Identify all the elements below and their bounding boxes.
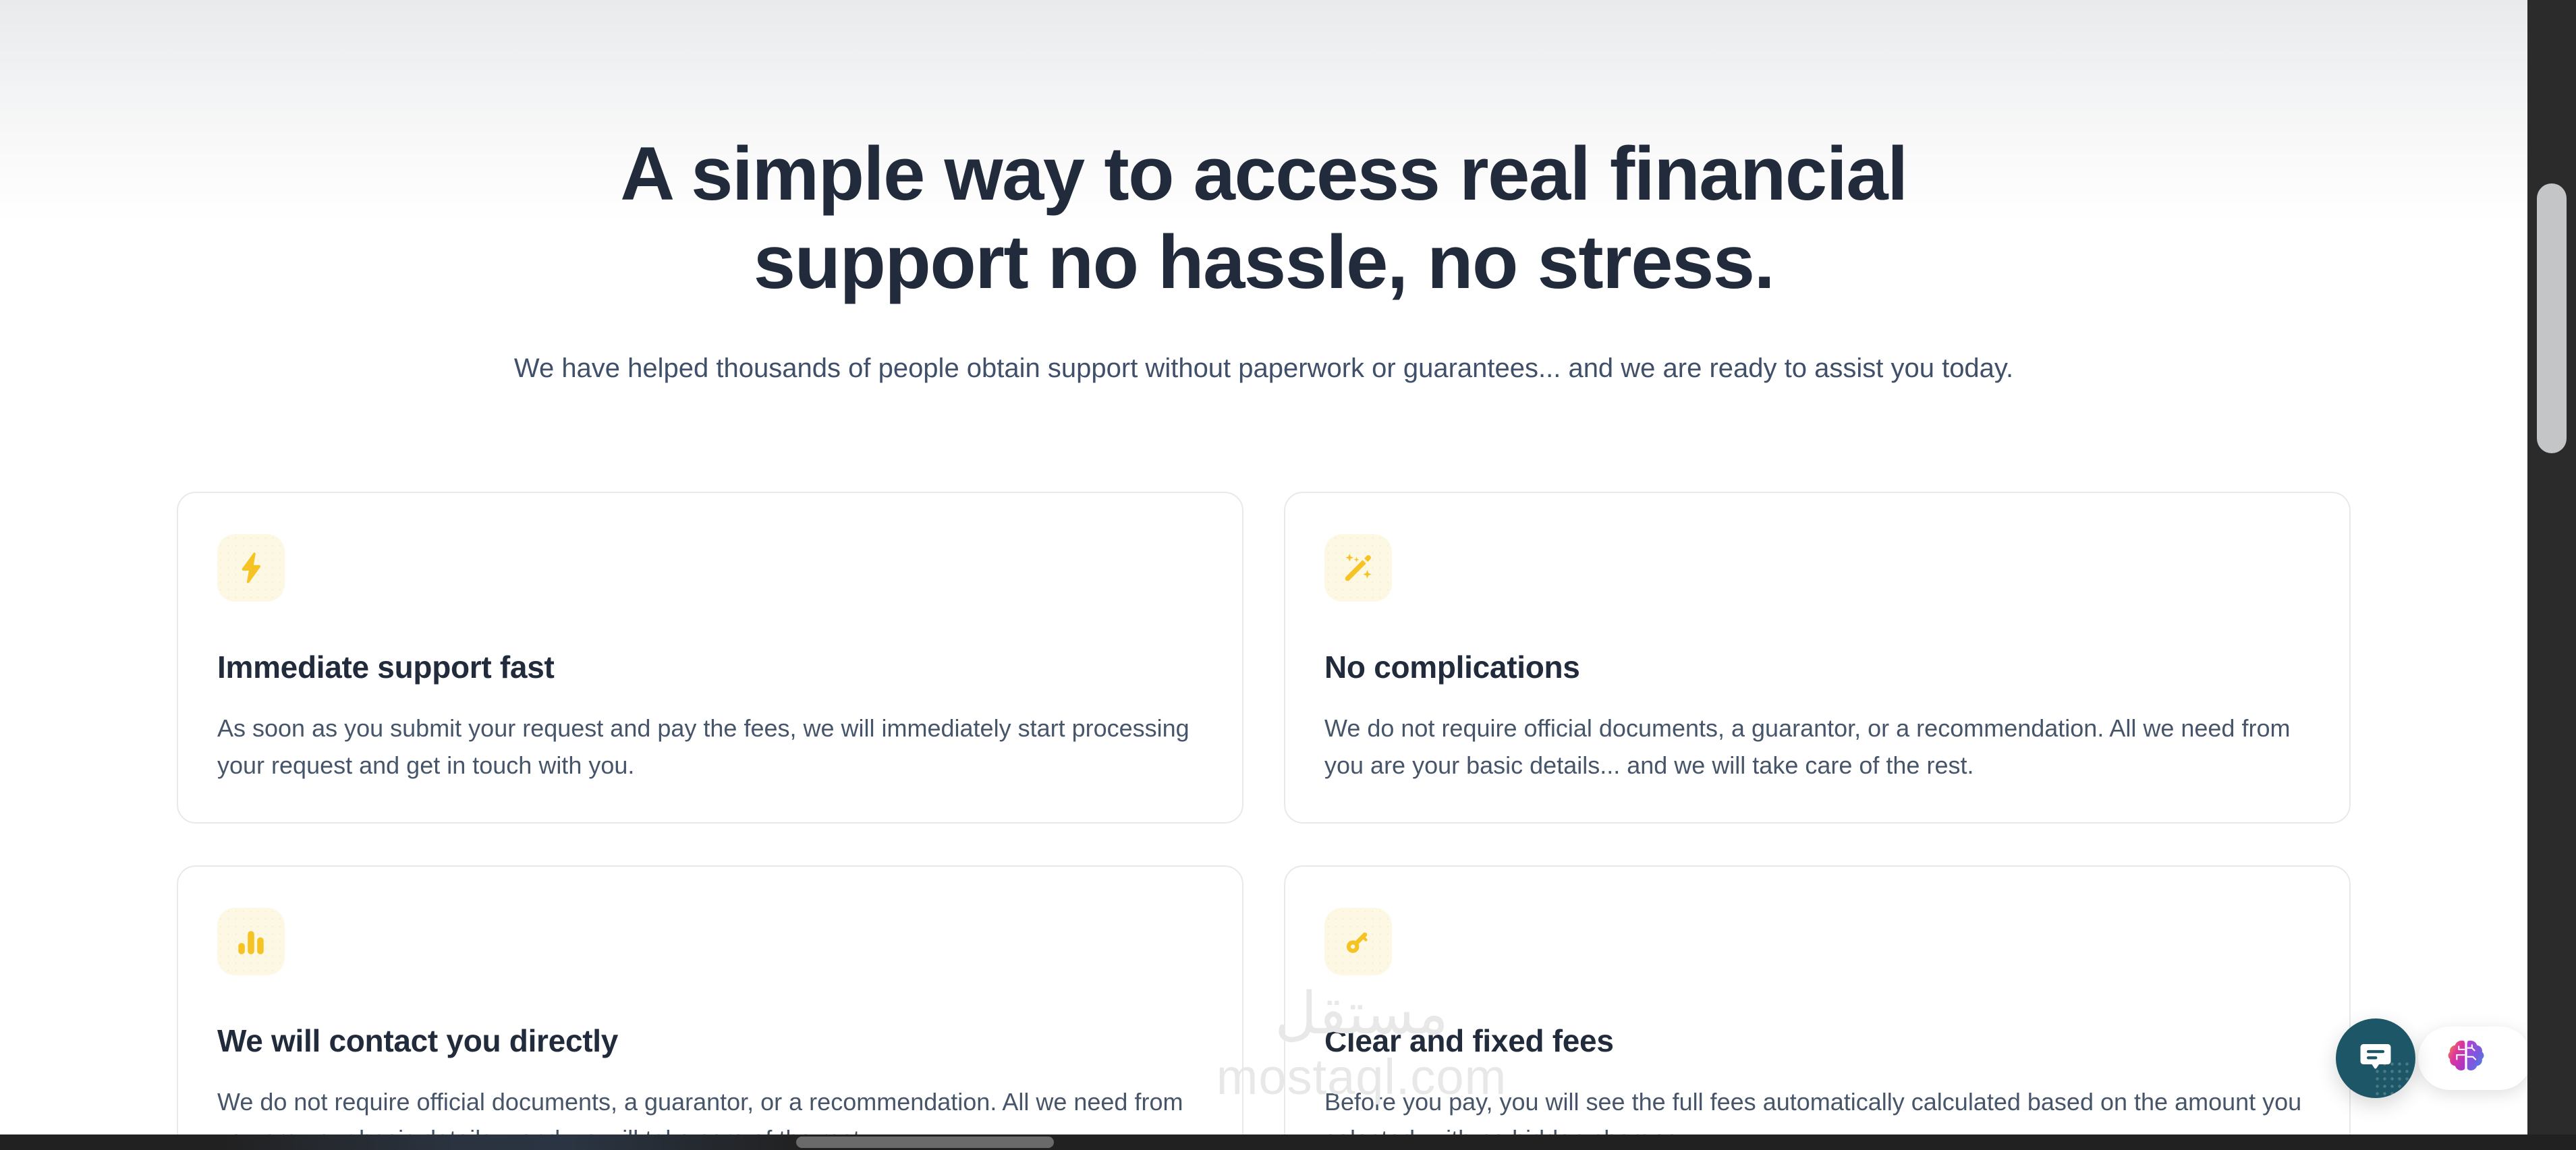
brain-icon[interactable] [2418,1027,2527,1090]
page-content: A simple way to access real financial su… [0,0,2527,1134]
feature-cards-grid: Immediate support fast As soon as you su… [177,492,2351,1134]
browser-viewport: A simple way to access real financial su… [0,0,2576,1150]
horizontal-scrollbar-thumb[interactable] [796,1137,1054,1148]
feature-card[interactable]: Immediate support fast As soon as you su… [177,492,1243,824]
vertical-scrollbar-thumb[interactable] [2537,183,2567,453]
feature-card[interactable]: Clear and fixed fees Before you pay, you… [1284,865,2351,1134]
feature-card-body: As soon as you submit your request and p… [217,710,1203,784]
magic-wand-sparkles-icon [1324,534,1392,602]
key-icon [1324,908,1392,975]
fab-dot-texture [2374,1060,2413,1095]
page-subtitle: We have helped thousands of people obtai… [0,348,2527,389]
feature-card-body: Before you pay, you will see the full fe… [1324,1084,2310,1134]
feature-card-title: We will contact you directly [217,1023,1203,1060]
bar-chart-icon [217,908,285,975]
horizontal-scrollbar[interactable] [0,1134,2576,1150]
hero-section: A simple way to access real financial su… [0,130,2527,389]
feature-card-title: Clear and fixed fees [1324,1023,2310,1060]
horizontal-scrollbar-track-tint [223,1134,803,1150]
feature-card-body: We do not require official documents, a … [217,1084,1203,1134]
page-title-line-2: support no hassle, no stress. [754,220,1774,304]
feature-card-title: No complications [1324,649,2310,686]
vertical-scrollbar[interactable] [2527,0,2576,1134]
page-title-line-1: A simple way to access real financial [620,132,1907,216]
feature-card-body: We do not require official documents, a … [1324,710,2310,784]
page-title: A simple way to access real financial su… [555,130,1972,306]
chat-bubble-icon[interactable] [2336,1018,2415,1098]
feature-card[interactable]: No complications We do not require offic… [1284,492,2351,824]
feature-card[interactable]: We will contact you directly We do not r… [177,865,1243,1134]
feature-card-title: Immediate support fast [217,649,1203,686]
lightning-bolt-icon [217,534,285,602]
